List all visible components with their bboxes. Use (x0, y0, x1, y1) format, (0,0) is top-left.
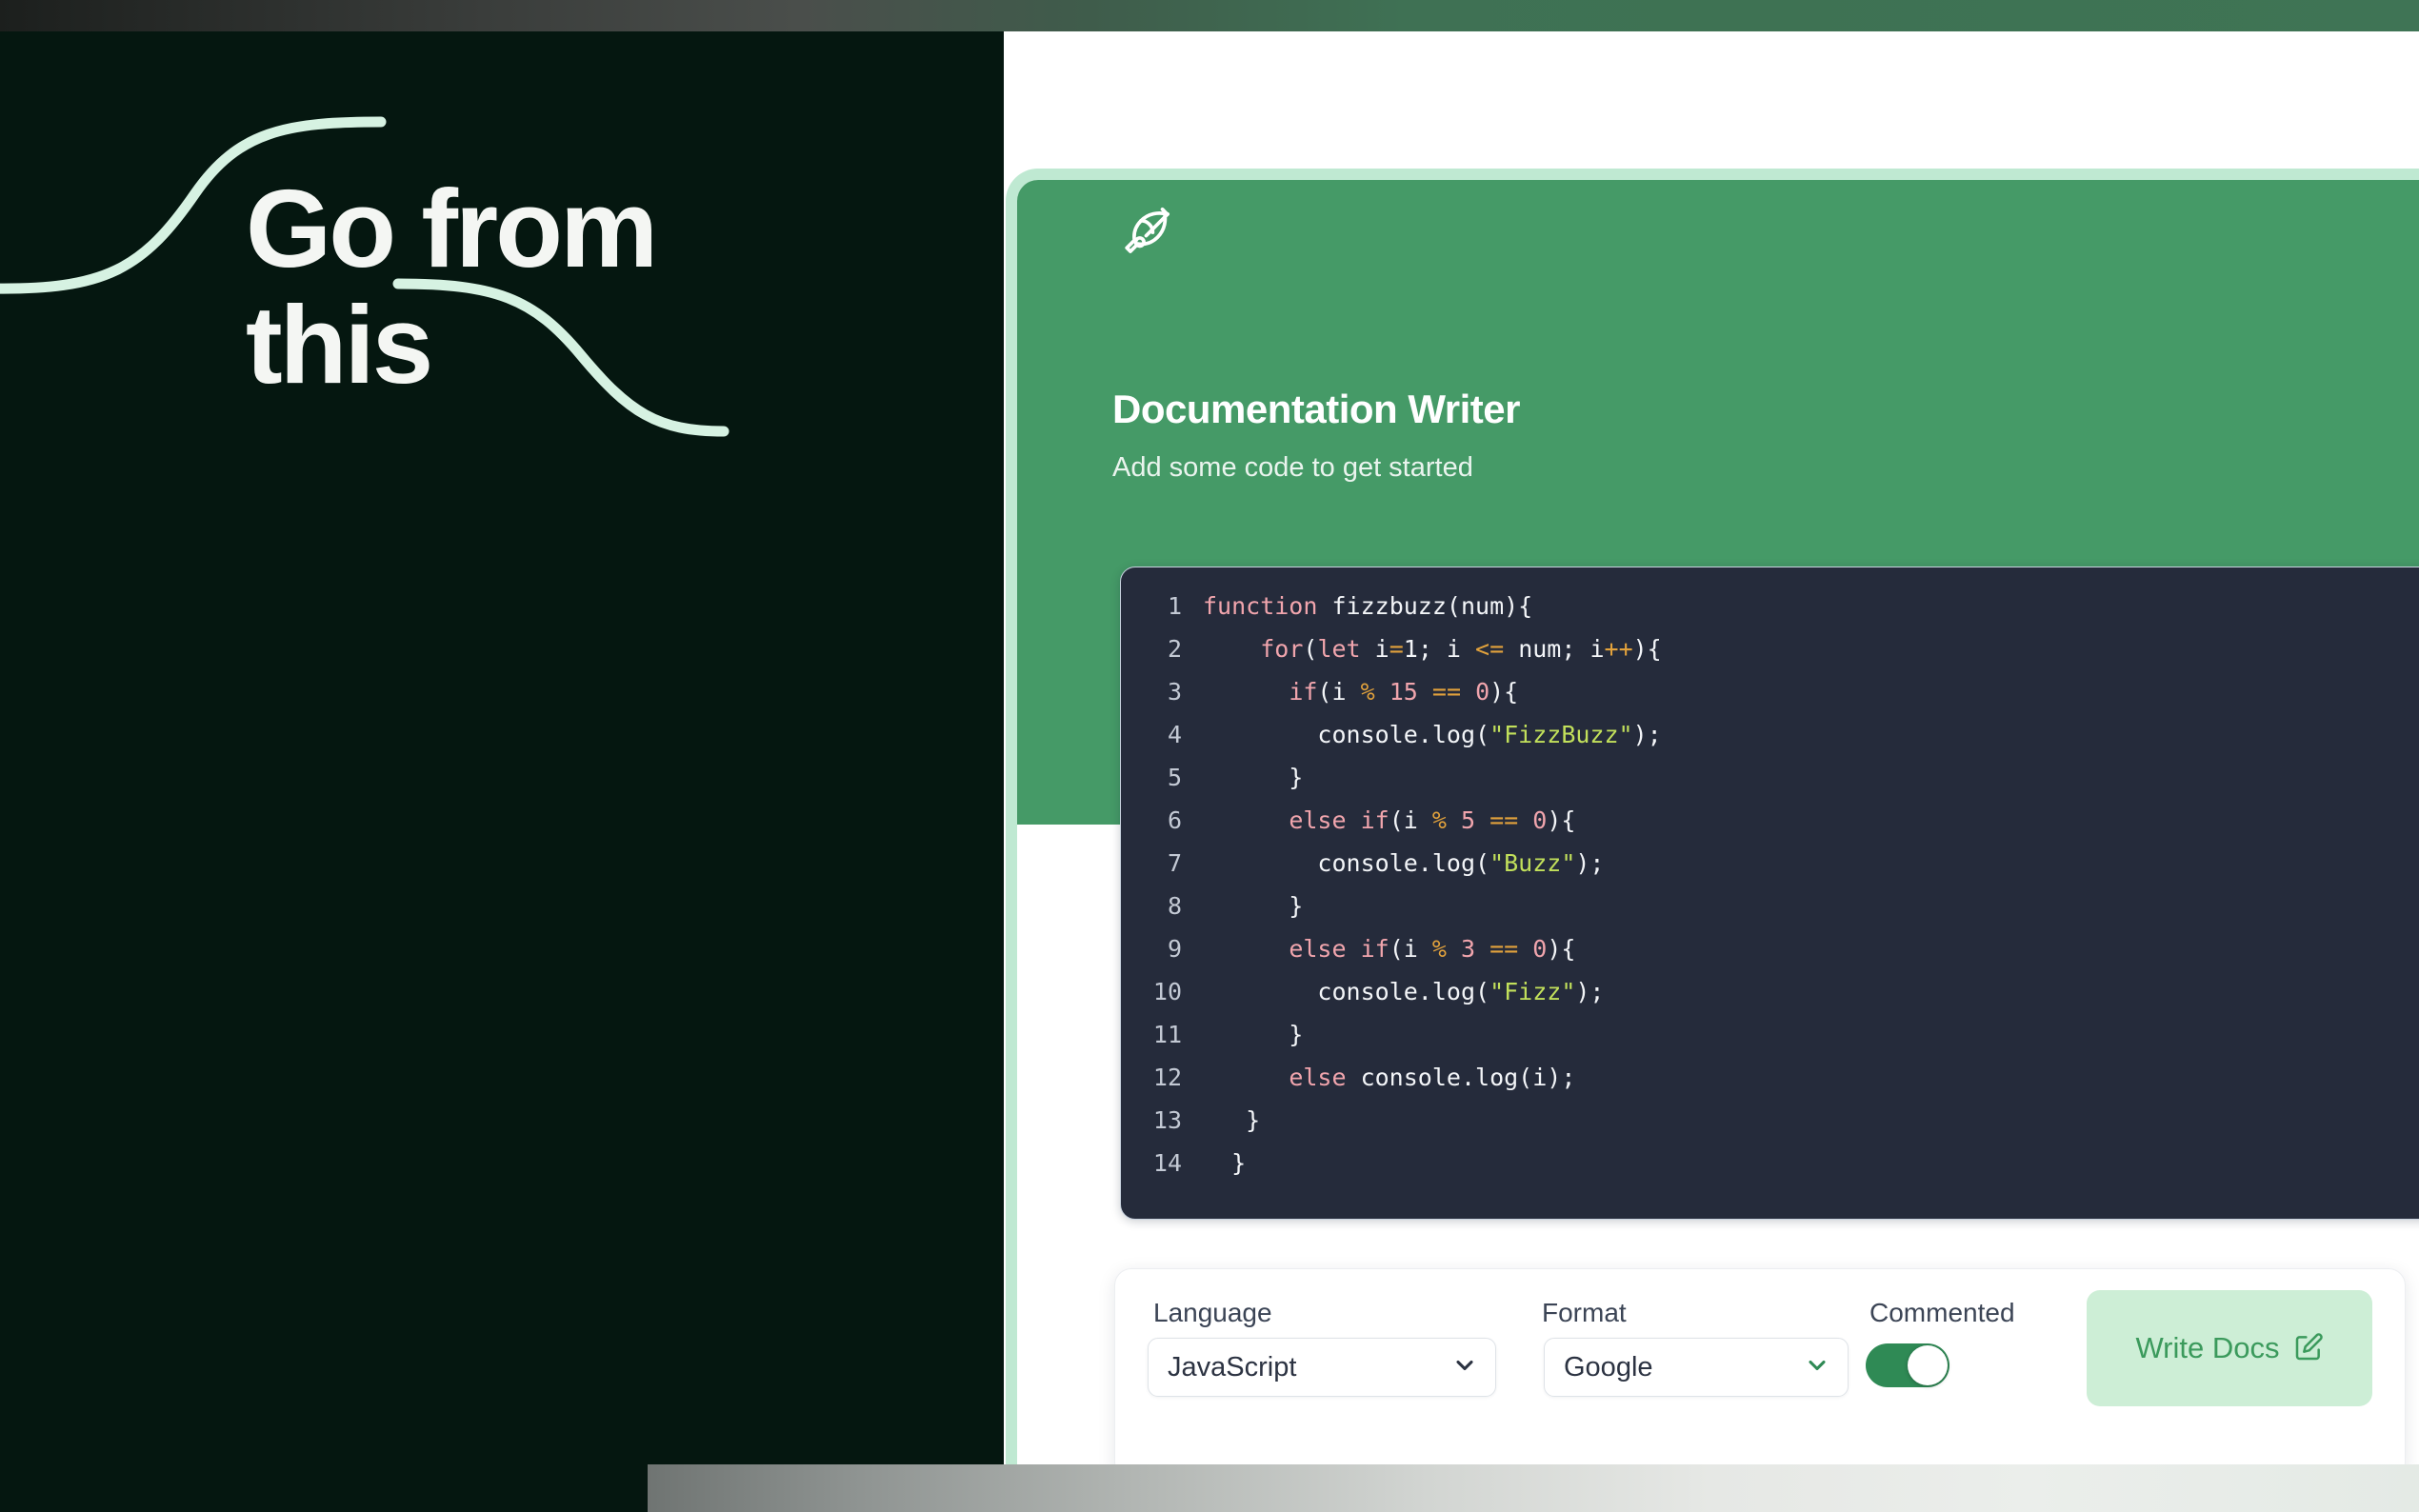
code-line: 6 else if(i % 5 == 0){ (1121, 799, 1662, 842)
code-line: 10 console.log("Fizz"); (1121, 970, 1662, 1013)
line-number: 11 (1121, 1013, 1203, 1056)
line-source: } (1203, 1013, 1662, 1056)
code-line: 5 } (1121, 756, 1662, 799)
line-source: } (1203, 885, 1662, 927)
page-title: Go from this (246, 171, 970, 404)
code-line: 1function fizzbuzz(num){ (1121, 585, 1662, 627)
top-gradient-strip (0, 0, 2419, 31)
line-source: else if(i % 5 == 0){ (1203, 799, 1662, 842)
write-docs-button[interactable]: Write Docs (2087, 1290, 2372, 1406)
headline-line-2: this (246, 288, 970, 404)
language-label: Language (1153, 1298, 1272, 1328)
format-select-value: Google (1564, 1352, 1653, 1383)
chevron-down-icon (1451, 1352, 1478, 1383)
line-number: 2 (1121, 627, 1203, 670)
headline-line-1: Go from (246, 167, 655, 290)
commented-toggle[interactable] (1866, 1343, 1949, 1387)
code-lines-table: 1function fizzbuzz(num){2 for(let i=1; i… (1121, 585, 1662, 1184)
line-number: 8 (1121, 885, 1203, 927)
language-select-value: JavaScript (1168, 1352, 1296, 1383)
format-select[interactable]: Google (1544, 1338, 1849, 1397)
line-source: for(let i=1; i <= num; i++){ (1203, 627, 1662, 670)
code-editor[interactable]: 1function fizzbuzz(num){2 for(let i=1; i… (1120, 567, 2419, 1220)
quill-pen-icon (1116, 205, 1177, 270)
commented-label: Commented (1869, 1298, 2015, 1328)
code-line: 14 } (1121, 1142, 1662, 1184)
code-line: 9 else if(i % 3 == 0){ (1121, 927, 1662, 970)
line-number: 1 (1121, 585, 1203, 627)
line-number: 14 (1121, 1142, 1203, 1184)
bottom-left-dark-strip (0, 1464, 648, 1512)
line-source: } (1203, 756, 1662, 799)
code-line: 4 console.log("FizzBuzz"); (1121, 713, 1662, 756)
line-number: 12 (1121, 1056, 1203, 1099)
code-line: 13 } (1121, 1099, 1662, 1142)
line-source: else if(i % 3 == 0){ (1203, 927, 1662, 970)
line-number: 9 (1121, 927, 1203, 970)
bottom-gradient-strip (648, 1464, 2419, 1512)
line-source: console.log("Fizz"); (1203, 970, 1662, 1013)
code-line: 2 for(let i=1; i <= num; i++){ (1121, 627, 1662, 670)
language-select[interactable]: JavaScript (1148, 1338, 1496, 1397)
line-source: if(i % 15 == 0){ (1203, 670, 1662, 713)
line-source: } (1203, 1142, 1662, 1184)
code-line: 7 console.log("Buzz"); (1121, 842, 1662, 885)
line-number: 4 (1121, 713, 1203, 756)
chevron-down-icon (1804, 1352, 1830, 1383)
line-source: console.log("FizzBuzz"); (1203, 713, 1662, 756)
code-line: 8 } (1121, 885, 1662, 927)
pencil-square-icon (2293, 1332, 2324, 1365)
code-line: 11 } (1121, 1013, 1662, 1056)
line-source: } (1203, 1099, 1662, 1142)
line-source: else console.log(i); (1203, 1056, 1662, 1099)
write-docs-label: Write Docs (2135, 1331, 2279, 1365)
card-subtitle: Add some code to get started (1112, 452, 1473, 484)
code-line: 12 else console.log(i); (1121, 1056, 1662, 1099)
card-title: Documentation Writer (1112, 387, 1520, 432)
line-source: console.log("Buzz"); (1203, 842, 1662, 885)
line-number: 7 (1121, 842, 1203, 885)
line-number: 6 (1121, 799, 1203, 842)
format-label: Format (1542, 1298, 1627, 1328)
code-line: 3 if(i % 15 == 0){ (1121, 670, 1662, 713)
line-number: 10 (1121, 970, 1203, 1013)
line-number: 13 (1121, 1099, 1203, 1142)
line-number: 3 (1121, 670, 1203, 713)
toggle-knob (1908, 1345, 1948, 1385)
line-source: function fizzbuzz(num){ (1203, 585, 1662, 627)
controls-panel: Language JavaScript Format Google Commen… (1114, 1268, 2406, 1480)
line-number: 5 (1121, 756, 1203, 799)
